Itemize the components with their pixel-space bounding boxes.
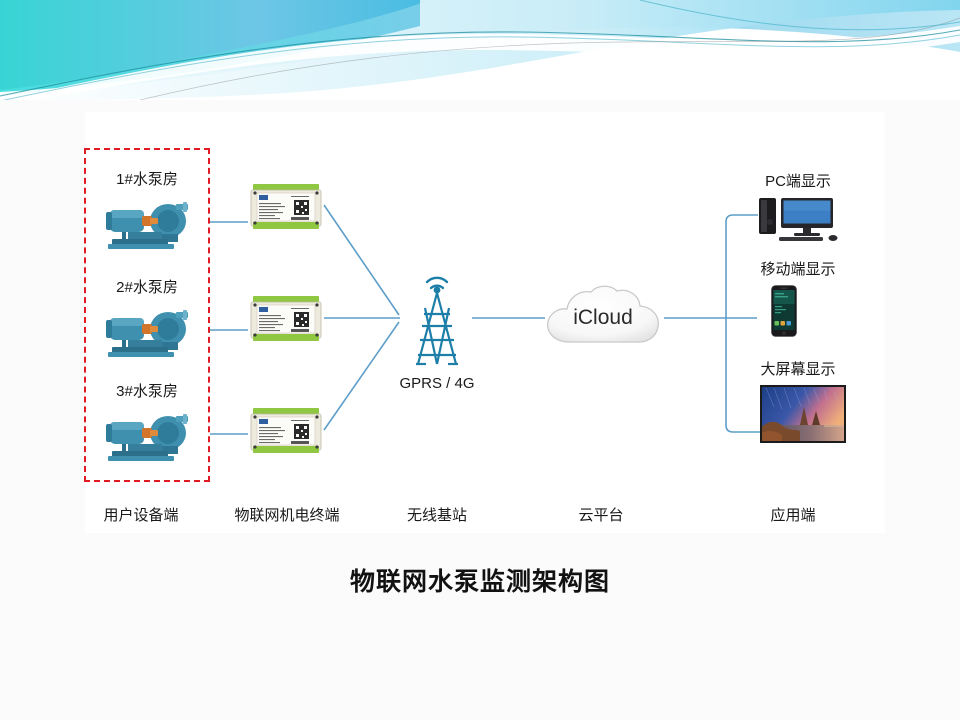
stage-label-terminal: 物联网机电终端 [214,504,360,525]
smartphone-icon [771,285,797,337]
pump-room-2-label: 2#水泵房 [84,276,210,297]
stage-label-cloud: 云平台 [540,504,662,525]
water-pump-icon [98,408,194,464]
large-display-screen-icon [760,385,846,443]
water-pump-icon [98,304,194,360]
desktop-computer-graphic [757,196,841,244]
iot-terminal-graphic [249,182,323,232]
mobile-display-label: 移动端显示 [735,258,861,279]
pump-room-3-label: 3#水泵房 [84,380,210,401]
cloud-label: iCloud [540,280,666,356]
cell-tower-graphic [394,260,480,372]
pc-display-label: PC端显示 [735,170,861,191]
decorative-wave-banner [0,0,960,100]
iot-terminal-module-icon [249,182,323,232]
large-display-graphic [760,385,846,443]
stage-label-device: 用户设备端 [80,504,202,525]
desktop-computer-icon [757,196,841,244]
banner-graphic [0,0,960,100]
base-station-label: GPRS / 4G [374,375,500,392]
water-pump-graphic [98,196,194,252]
water-pump-graphic [98,304,194,360]
iot-terminal-graphic [249,406,323,456]
iot-terminal-module-icon [249,294,323,344]
iot-terminal-module-icon [249,406,323,456]
page-title: 物联网水泵监测架构图 [0,562,960,598]
stage-label-app: 应用端 [732,504,854,525]
cloud-icon: iCloud [540,280,666,356]
iot-terminal-graphic [249,294,323,344]
water-pump-icon [98,196,194,252]
cell-tower-icon [394,260,480,372]
water-pump-graphic [98,408,194,464]
smartphone-graphic [771,285,797,337]
pump-room-1-label: 1#水泵房 [84,168,210,189]
big-screen-display-label: 大屏幕显示 [735,358,861,379]
stage-label-station: 无线基站 [375,504,499,525]
